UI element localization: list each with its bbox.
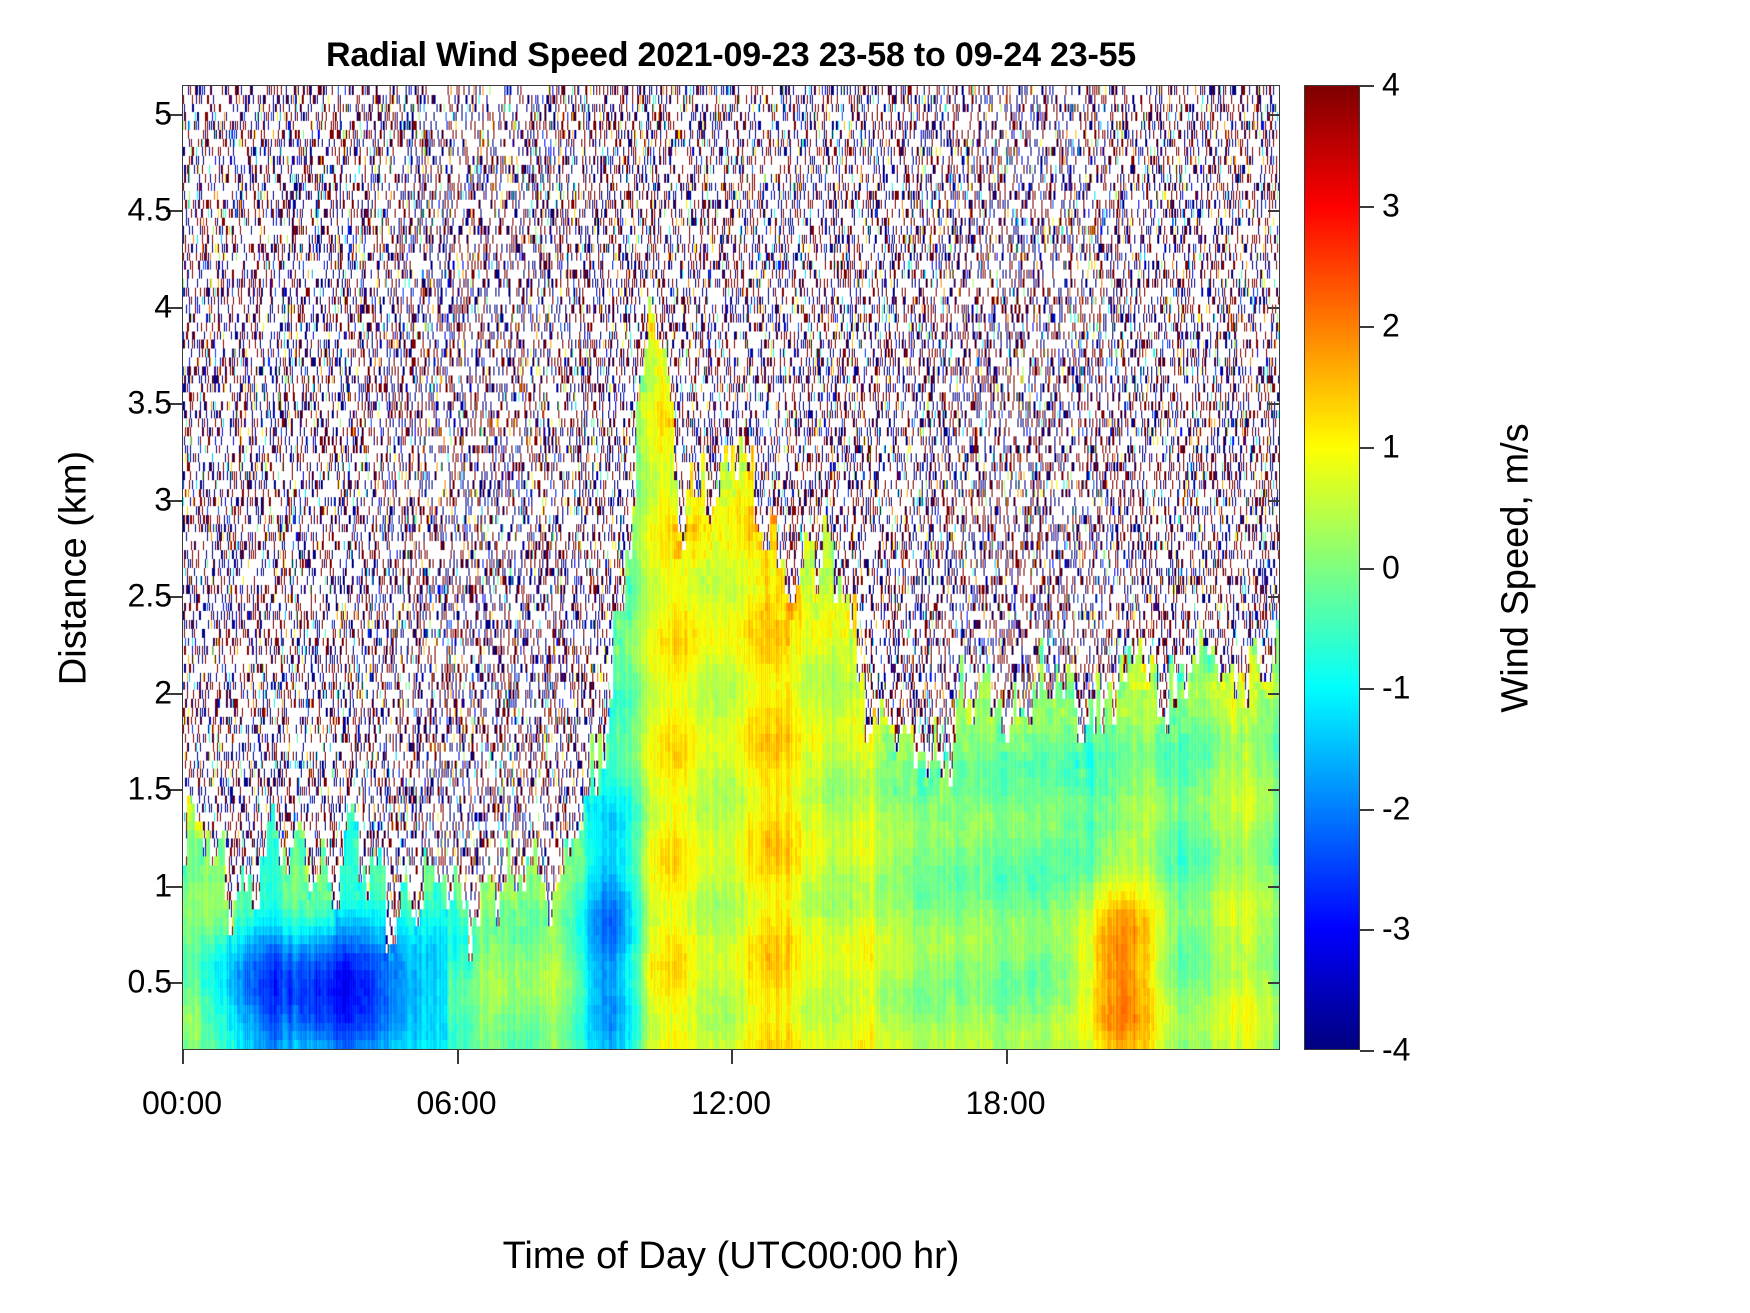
y-axis-tick-right xyxy=(1268,886,1280,888)
colorbar-tick xyxy=(1360,447,1374,449)
x-axis-tick xyxy=(457,1050,459,1064)
y-axis-tick-right xyxy=(1268,982,1280,984)
colorbar-tick-label: -3 xyxy=(1382,911,1410,948)
colorbar-tick-label: -4 xyxy=(1382,1032,1410,1069)
x-axis-tick-label: 06:00 xyxy=(416,1085,496,1122)
y-axis-tick-right xyxy=(1268,307,1280,309)
x-axis-tick xyxy=(182,1050,184,1064)
colorbar-tick-label: 1 xyxy=(1382,428,1400,465)
x-axis-tick xyxy=(731,1050,733,1064)
y-axis-tick-right xyxy=(1268,500,1280,502)
colorbar-tick xyxy=(1360,326,1374,328)
chart-title: Radial Wind Speed 2021-09-23 23-58 to 09… xyxy=(182,36,1280,75)
x-axis-tick-label: 18:00 xyxy=(965,1085,1045,1122)
colorbar-tick-label: 3 xyxy=(1382,187,1400,224)
y-axis-tick-label: 0.5 xyxy=(12,964,172,1001)
y-axis-tick-label: 4 xyxy=(12,288,172,325)
y-axis-tick-right xyxy=(1268,210,1280,212)
y-axis-tick-label: 3.5 xyxy=(12,385,172,422)
colorbar-tick-label: 0 xyxy=(1382,549,1400,586)
x-axis-label: Time of Day (UTC00:00 hr) xyxy=(503,1235,960,1278)
colorbar-tick xyxy=(1360,206,1374,208)
colorbar-tick xyxy=(1360,85,1374,87)
x-axis-tick-label: 12:00 xyxy=(691,1085,771,1122)
y-axis-tick-right xyxy=(1268,693,1280,695)
colorbar-label: Wind Speed, m/s xyxy=(1495,423,1538,712)
y-axis-tick-label: 1.5 xyxy=(12,771,172,808)
y-axis-tick-right xyxy=(1268,403,1280,405)
colorbar-tick xyxy=(1360,568,1374,570)
colorbar-tick-layer: -4-3-2-101234Wind Speed, m/s xyxy=(1304,85,1360,1050)
x-axis-tick xyxy=(1006,1050,1008,1064)
colorbar-tick xyxy=(1360,1050,1374,1052)
y-axis-tick-label: 1 xyxy=(12,867,172,904)
colorbar-tick-label: -1 xyxy=(1382,670,1410,707)
colorbar-tick-label: -2 xyxy=(1382,790,1410,827)
colorbar-tick-label: 2 xyxy=(1382,308,1400,345)
y-axis-label: Distance (km) xyxy=(53,450,96,684)
y-axis-tick-label: 5 xyxy=(12,95,172,132)
y-axis-tick-right xyxy=(1268,596,1280,598)
colorbar-tick xyxy=(1360,809,1374,811)
colorbar-tick xyxy=(1360,688,1374,690)
y-axis-tick-right xyxy=(1268,789,1280,791)
figure-canvas: Radial Wind Speed 2021-09-23 23-58 to 09… xyxy=(0,0,1750,1313)
y-axis-tick-right xyxy=(1268,114,1280,116)
colorbar-tick-label: 4 xyxy=(1382,67,1400,104)
y-axis-tick-label: 4.5 xyxy=(12,192,172,229)
colorbar-tick xyxy=(1360,929,1374,931)
tick-layer: 0.511.522.533.544.5500:0006:0012:0018:00… xyxy=(182,85,1280,1050)
x-axis-tick-label: 00:00 xyxy=(142,1085,222,1122)
